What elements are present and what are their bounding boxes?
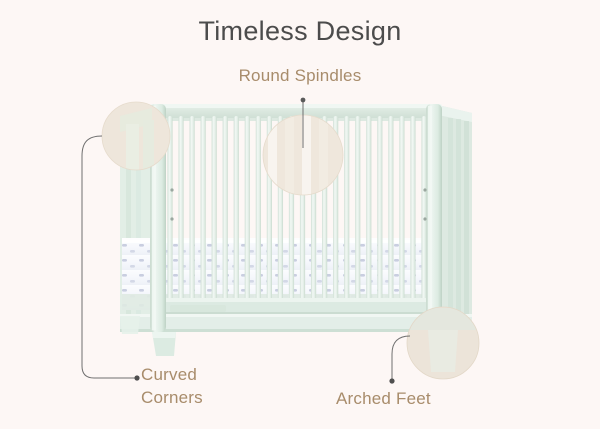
callout-marker-curved-corners[interactable] [102, 102, 170, 172]
callout-label-curved-corners: Curved Corners [141, 364, 271, 410]
leader-line-curved-corners [82, 136, 140, 381]
callout-marker-arched-feet[interactable] [407, 307, 479, 379]
illustration-stage: Timeless Design [0, 0, 600, 429]
callout-label-round-spindles: Round Spindles [0, 65, 600, 88]
callout-label-arched-feet: Arched Feet [336, 388, 496, 411]
